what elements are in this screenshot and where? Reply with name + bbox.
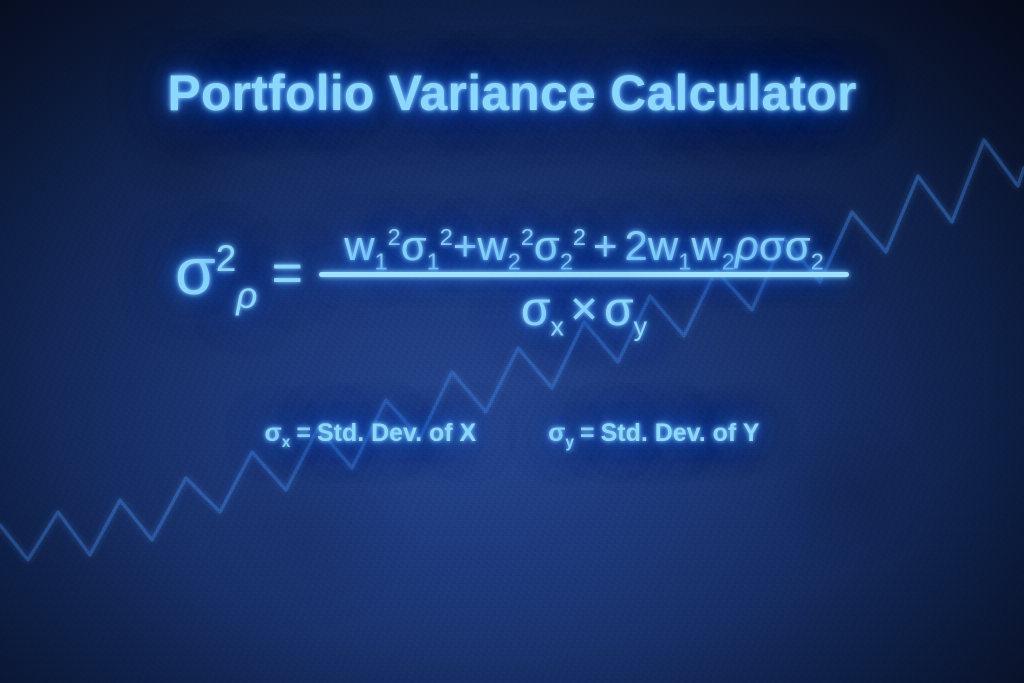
numer-sigma1-sub: 1 (427, 248, 440, 274)
numer-w2-sub: 2 (508, 248, 521, 274)
numer-rho: ρ (735, 222, 759, 269)
numer-t3-sigma: σ (759, 222, 785, 269)
numer-t3-w1-sub: 1 (678, 248, 691, 274)
legend-y-definition: Std. Dev. of Y (601, 419, 760, 447)
numer-w1-sup: 2 (388, 224, 401, 250)
legend-x-symbol: σ (265, 419, 282, 447)
legend-y-symbol: σ (548, 419, 565, 447)
legend: σx=Std. Dev. of X σy=Std. Dev. of Y (0, 419, 1024, 448)
lhs-subscript-rho: ρ (236, 275, 257, 316)
numer-plus-1: + (453, 222, 478, 269)
numer-plus-2: + (593, 222, 618, 269)
fraction-denominator: σx×σy (521, 277, 647, 335)
legend-item-sigma-y: σy=Std. Dev. of Y (548, 419, 759, 448)
denom-sigma-x-sub: x (551, 312, 564, 342)
poster-canvas: Portfolio Variance Calculator σ2ρ = w12σ… (0, 0, 1024, 683)
formula-left-hand-side: σ2ρ (175, 238, 257, 304)
variance-formula: σ2ρ = w12σ12+w22σ22+2w1w2ρσσ2 σx×σy (0, 222, 1024, 333)
fraction: w12σ12+w22σ22+2w1w2ρσσ2 σx×σy (319, 224, 849, 335)
legend-x-subscript: x (282, 434, 291, 451)
numer-t3-sigma2-sub: 2 (811, 248, 824, 274)
denom-multiply-operator: × (570, 283, 598, 336)
numer-t3-sigma2: σ (785, 222, 811, 269)
denom-sigma-y-sub: y (634, 312, 647, 342)
numer-w2-sup: 2 (521, 224, 534, 250)
numer-sigma1: σ (401, 222, 427, 269)
numer-sigma2-sup: 2 (573, 224, 586, 250)
denom-sigma-y: σ (604, 283, 634, 336)
numer-sigma2: σ (534, 222, 560, 269)
legend-x-definition: Std. Dev. of X (317, 419, 476, 447)
numer-t3-w1: w (648, 222, 678, 269)
numer-t3-w2: w (691, 222, 721, 269)
numer-sigma2-sub: 2 (560, 248, 573, 274)
numer-w2: w (477, 222, 507, 269)
denom-sigma-x: σ (521, 283, 551, 336)
legend-item-sigma-x: σx=Std. Dev. of X (265, 419, 477, 448)
numer-t3-w2-sub: 2 (722, 248, 735, 274)
legend-y-equals: = (580, 419, 595, 447)
equals-sign: = (271, 246, 303, 300)
numer-w1-sub: 1 (375, 248, 388, 274)
legend-x-equals: = (296, 419, 311, 447)
lhs-sigma: σ (175, 234, 216, 308)
fraction-numerator: w12σ12+w22σ22+2w1w2ρσσ2 (338, 224, 830, 272)
legend-y-subscript: y (565, 434, 574, 451)
numer-w1: w (344, 222, 374, 269)
numer-coefficient-2: 2 (625, 222, 648, 269)
numer-sigma1-sup: 2 (440, 224, 453, 250)
page-title: Portfolio Variance Calculator (0, 64, 1024, 122)
lhs-exponent: 2 (216, 238, 237, 279)
